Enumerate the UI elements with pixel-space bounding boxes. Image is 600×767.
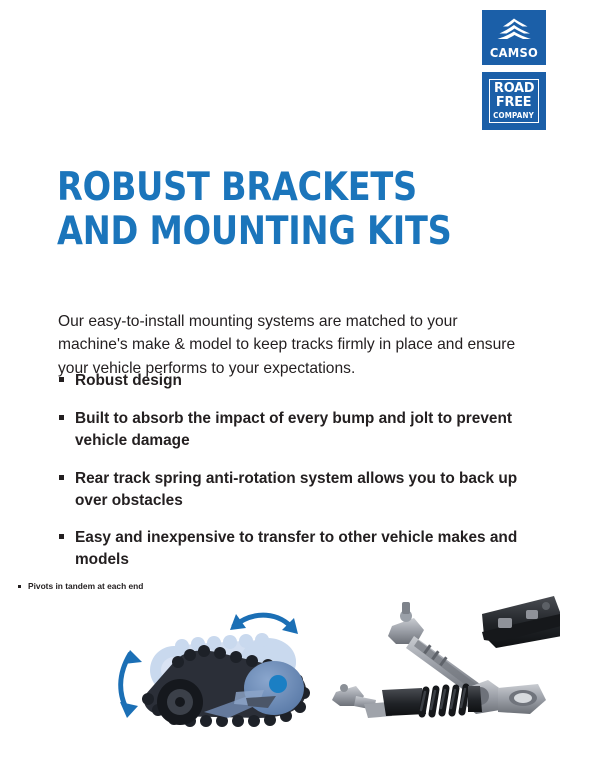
road-free-line-free: FREE <box>496 96 531 110</box>
footnote-label: Pivots in tandem at each end <box>28 581 143 591</box>
arrow-head-down-left <box>120 702 138 718</box>
camso-logo: CAMSO <box>482 10 546 65</box>
brand-logo-stack: CAMSO ROAD FREE COMPANY <box>482 10 546 130</box>
square-bullet-icon <box>59 475 64 480</box>
page-title: ROBUST BRACKETS AND MOUNTING KITS <box>57 166 497 254</box>
square-bullet-icon <box>59 534 64 539</box>
list-item-label: Built to absorb the impact of every bump… <box>75 410 512 449</box>
headline-line-2: AND MOUNTING KITS <box>57 210 435 254</box>
mounting-hardware-parts-icon <box>330 592 560 732</box>
list-item-label: Rear track spring anti-rotation system a… <box>75 470 517 509</box>
camso-track-swoosh-icon <box>496 17 532 41</box>
list-item: Robust design <box>58 370 528 392</box>
square-bullet-icon <box>59 415 64 420</box>
list-item-label: Easy and inexpensive to transfer to othe… <box>75 529 517 568</box>
hardware-photo <box>330 592 560 732</box>
road-free-line-company: COMPANY <box>494 112 535 120</box>
list-item-label: Robust design <box>75 372 182 389</box>
square-bullet-icon <box>59 377 64 382</box>
road-free-company-logo: ROAD FREE COMPANY <box>482 72 546 130</box>
list-item: Rear track spring anti-rotation system a… <box>58 468 528 512</box>
headline-line-1: ROBUST BRACKETS <box>57 166 435 210</box>
list-item: Easy and inexpensive to transfer to othe… <box>58 527 528 571</box>
coil-spring-damper-part <box>332 684 482 718</box>
track-pivot-diagram-icon <box>108 600 338 740</box>
camso-wordmark: CAMSO <box>485 47 544 60</box>
feature-bullet-list: Robust design Built to absorb the impact… <box>58 370 528 587</box>
list-item: Built to absorb the impact of every bump… <box>58 408 528 452</box>
footnote: Pivots in tandem at each end <box>18 581 143 591</box>
mounting-bracket-part <box>482 596 560 648</box>
square-bullet-icon <box>18 585 21 588</box>
track-system-illustration <box>108 600 338 740</box>
road-free-frame: ROAD FREE COMPANY <box>489 79 539 123</box>
